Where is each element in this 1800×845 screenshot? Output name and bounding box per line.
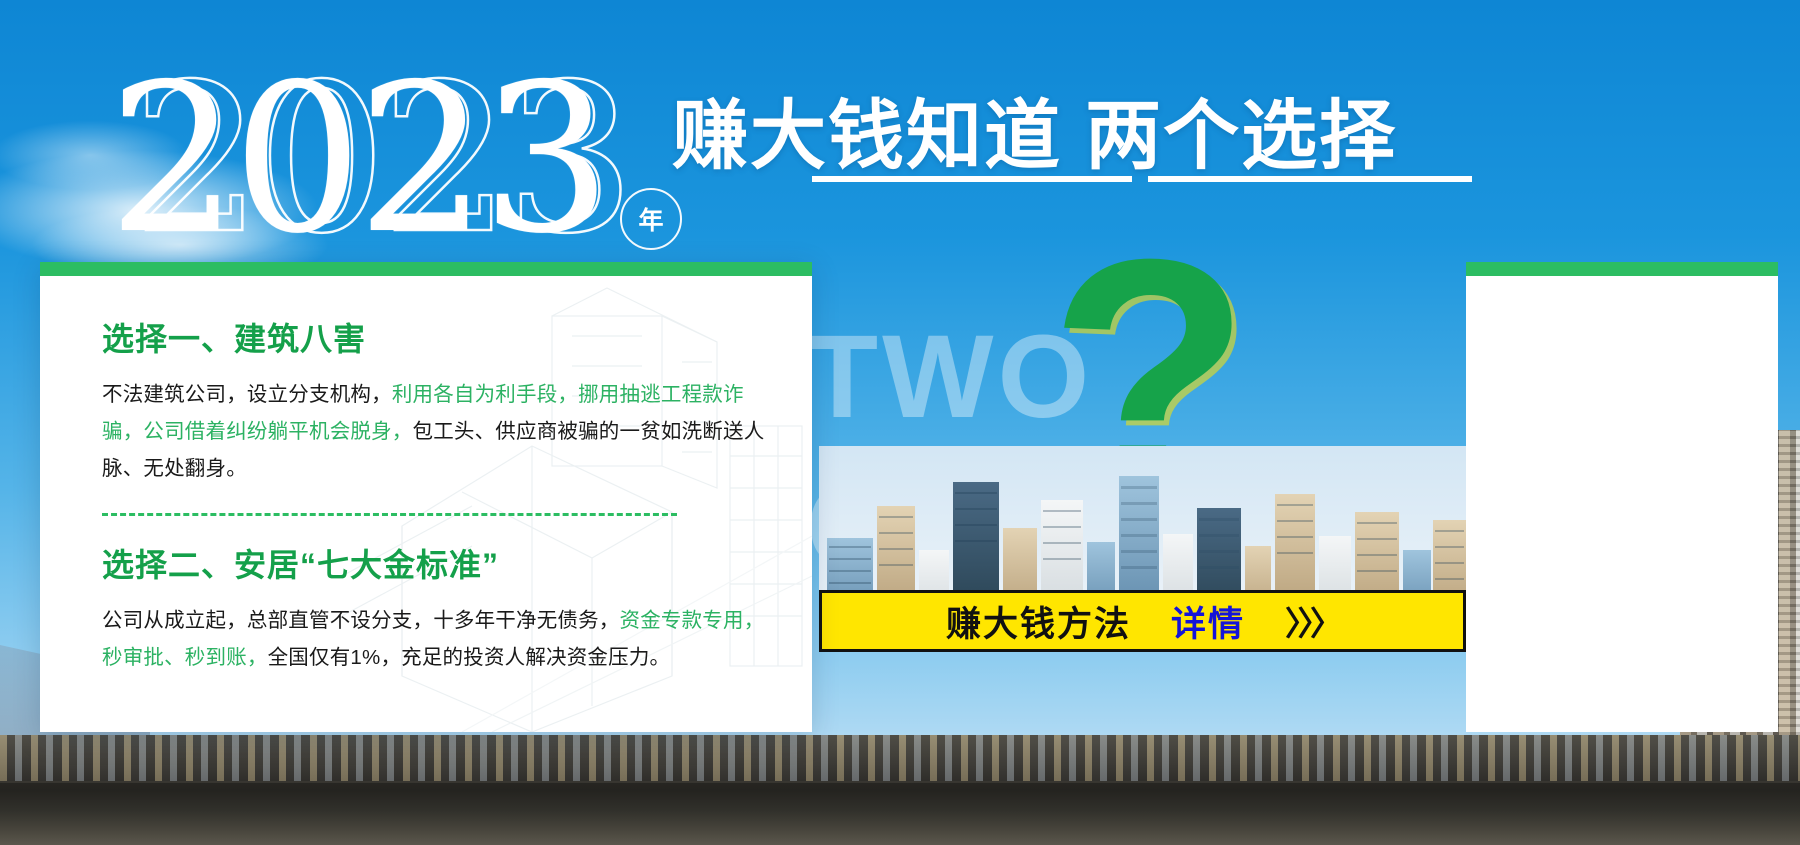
cta-action-link[interactable]: 详情: [1171, 596, 1245, 647]
cta-container[interactable]: 赚大钱方法 详情 〉〉〉: [806, 594, 1466, 664]
cta-label: 赚大钱方法: [946, 596, 1131, 647]
right-white-panel: [1466, 276, 1778, 732]
choice-section-one: 选择一、建筑八害 不法建筑公司，设立分支机构，利用各自为利手段，挪用抽逃工程款诈…: [102, 314, 778, 487]
choice-section-two: 选择二、安居“七大金标准” 公司从成立起，总部直管不设分支，十多年干净无债务，资…: [102, 540, 778, 676]
cloud-decoration: [0, 150, 320, 270]
cta-bar[interactable]: 赚大钱方法 详情 〉〉〉: [819, 590, 1466, 652]
headline-rule-left: [812, 176, 1132, 182]
year-badge: 年: [620, 188, 682, 250]
waterfront-strip: [0, 735, 1800, 845]
choice-one-title: 选择一、建筑八害: [102, 314, 778, 360]
choice-two-body-seg3: 全国仅有1%，充足的投资人解决资金压力。: [268, 646, 671, 669]
card-content: 选择一、建筑八害 不法建筑公司，设立分支机构，利用各自为利手段，挪用抽逃工程款诈…: [102, 314, 778, 676]
card-top-accent: [40, 262, 812, 276]
chevron-right-icon: 〉〉〉: [1285, 597, 1339, 645]
content-card: 选择一、建筑八害 不法建筑公司，设立分支机构，利用各自为利手段，挪用抽逃工程款诈…: [40, 262, 812, 732]
headline-rule-right: [1148, 176, 1472, 182]
choice-two-title: 选择二、安居“七大金标准”: [102, 540, 778, 586]
choice-one-body-seg1: 不法建筑公司，设立分支机构，: [102, 383, 392, 406]
headline-rules: [812, 176, 1472, 182]
page-title: 赚大钱知道 两个选择: [672, 74, 1397, 184]
choice-two-body-seg1: 公司从成立起，总部直管不设分支，十多年干净无债务，: [102, 609, 620, 632]
section-divider: [102, 513, 677, 516]
choice-two-body: 公司从成立起，总部直管不设分支，十多年干净无债务，资金专款专用，秒审批、秒到账，…: [102, 602, 778, 676]
cloud-decoration: [0, 120, 190, 190]
choice-one-body: 不法建筑公司，设立分支机构，利用各自为利手段，挪用抽逃工程款诈骗，公司借着纠纷躺…: [102, 376, 778, 487]
green-accent-bar: [1466, 262, 1778, 276]
